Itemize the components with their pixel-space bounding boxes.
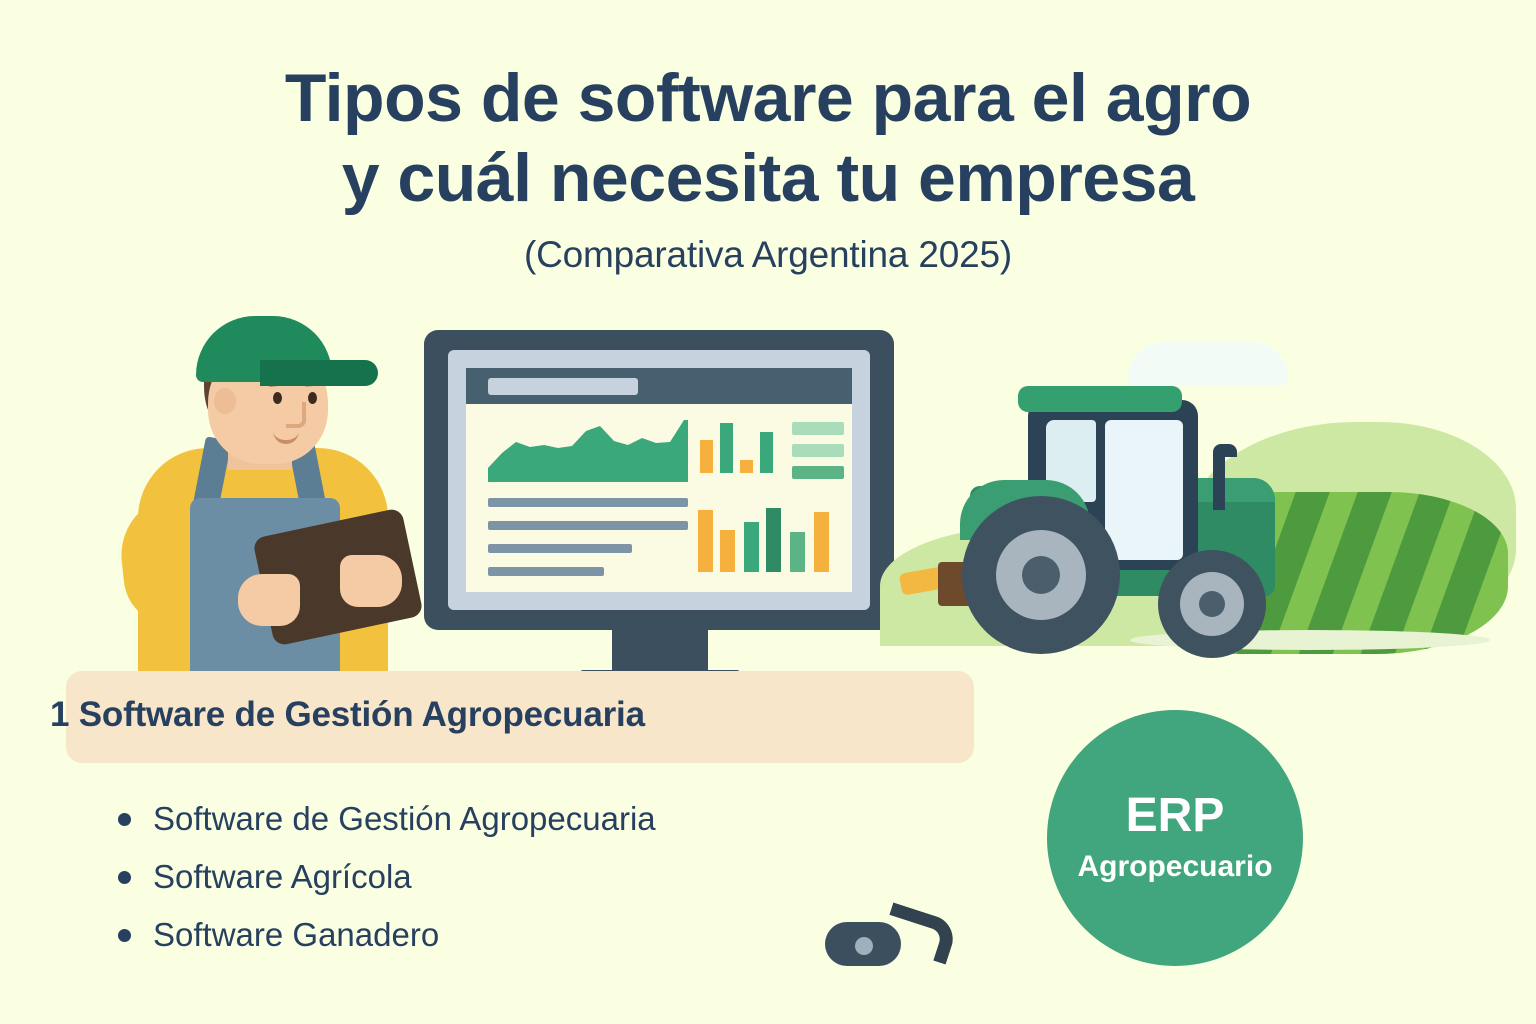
list-item: Software de Gestión Agropecuaria [118, 790, 656, 848]
illustration-scene [0, 300, 1536, 700]
list-item: Software Agrícola [118, 848, 656, 906]
cloud-shape [1128, 342, 1288, 386]
bullet-dot-icon [118, 871, 131, 884]
farmer-nose [286, 402, 306, 428]
dashboard-main-bar [744, 522, 759, 572]
dashboard-small-bar [720, 423, 733, 473]
tractor-front-wheel-hub [1199, 591, 1225, 617]
mouse-scroll-wheel [855, 937, 873, 955]
monitor-bezel [424, 330, 894, 630]
farmer-cap-brim [260, 360, 378, 386]
dashboard-main-bar [814, 512, 829, 572]
page-title-line-1: Tipos de software para el agro [0, 58, 1536, 138]
dashboard-small-bar [700, 440, 713, 473]
tractor-rear-wheel-hub [1022, 556, 1060, 594]
farmer-ear [214, 388, 236, 414]
bullet-dot-icon [118, 813, 131, 826]
dashboard-main-bar [766, 508, 781, 572]
list-item-label: Software Agrícola [153, 858, 412, 896]
tractor-window-front [1105, 420, 1183, 560]
search-field-placeholder [488, 378, 638, 395]
list-item: Software Ganadero [118, 906, 656, 964]
headline-block: Tipos de software para el agro y cuál ne… [0, 58, 1536, 276]
dashboard-text-line [488, 498, 688, 507]
software-type-list: Software de Gestión Agropecuaria Softwar… [118, 790, 656, 964]
page-subtitle: (Comparativa Argentina 2025) [0, 234, 1536, 276]
erp-badge-subtitle: Agropecuario [1077, 850, 1272, 884]
dashboard-main-bar [720, 530, 735, 572]
erp-badge: ERP Agropecuario [1047, 710, 1303, 966]
monitor-illustration [424, 330, 894, 690]
list-item-label: Software de Gestión Agropecuaria [153, 800, 656, 838]
infographic-canvas: Tipos de software para el agro y cuál ne… [0, 0, 1536, 1024]
dashboard-small-bar [740, 460, 753, 473]
dashboard-text-line [488, 544, 632, 553]
monitor-inner-frame [448, 350, 870, 610]
dashboard-text-line [488, 521, 688, 530]
tractor-exhaust-pipe [1213, 450, 1225, 510]
dashboard-small-bar [760, 432, 773, 473]
tractor-exhaust-cap [1213, 444, 1237, 457]
farmer-eye-left [273, 392, 282, 404]
page-title-line-2: y cuál necesita tu empresa [0, 138, 1536, 218]
dashboard-main-bar [790, 532, 805, 572]
dashboard-main-bar [698, 510, 713, 572]
area-chart [488, 420, 688, 482]
bullet-dot-icon [118, 929, 131, 942]
dashboard-progress-bar [792, 422, 844, 435]
section-title: 1 Software de Gestión Agropecuaria [50, 695, 645, 735]
dashboard-progress-bar [792, 444, 844, 457]
dashboard-text-line [488, 567, 604, 576]
erp-badge-title: ERP [1126, 792, 1225, 840]
dashboard-header-bar [466, 368, 852, 404]
farmer-hand-left [238, 574, 300, 626]
farmer-eye-right [308, 392, 317, 404]
dashboard-screen [466, 368, 852, 592]
tractor-scene [900, 300, 1536, 700]
farmer-illustration [110, 310, 440, 700]
list-item-label: Software Ganadero [153, 916, 439, 954]
tractor-roof [1018, 386, 1182, 412]
farmer-hand-right [340, 555, 402, 607]
dashboard-progress-bar [792, 466, 844, 479]
